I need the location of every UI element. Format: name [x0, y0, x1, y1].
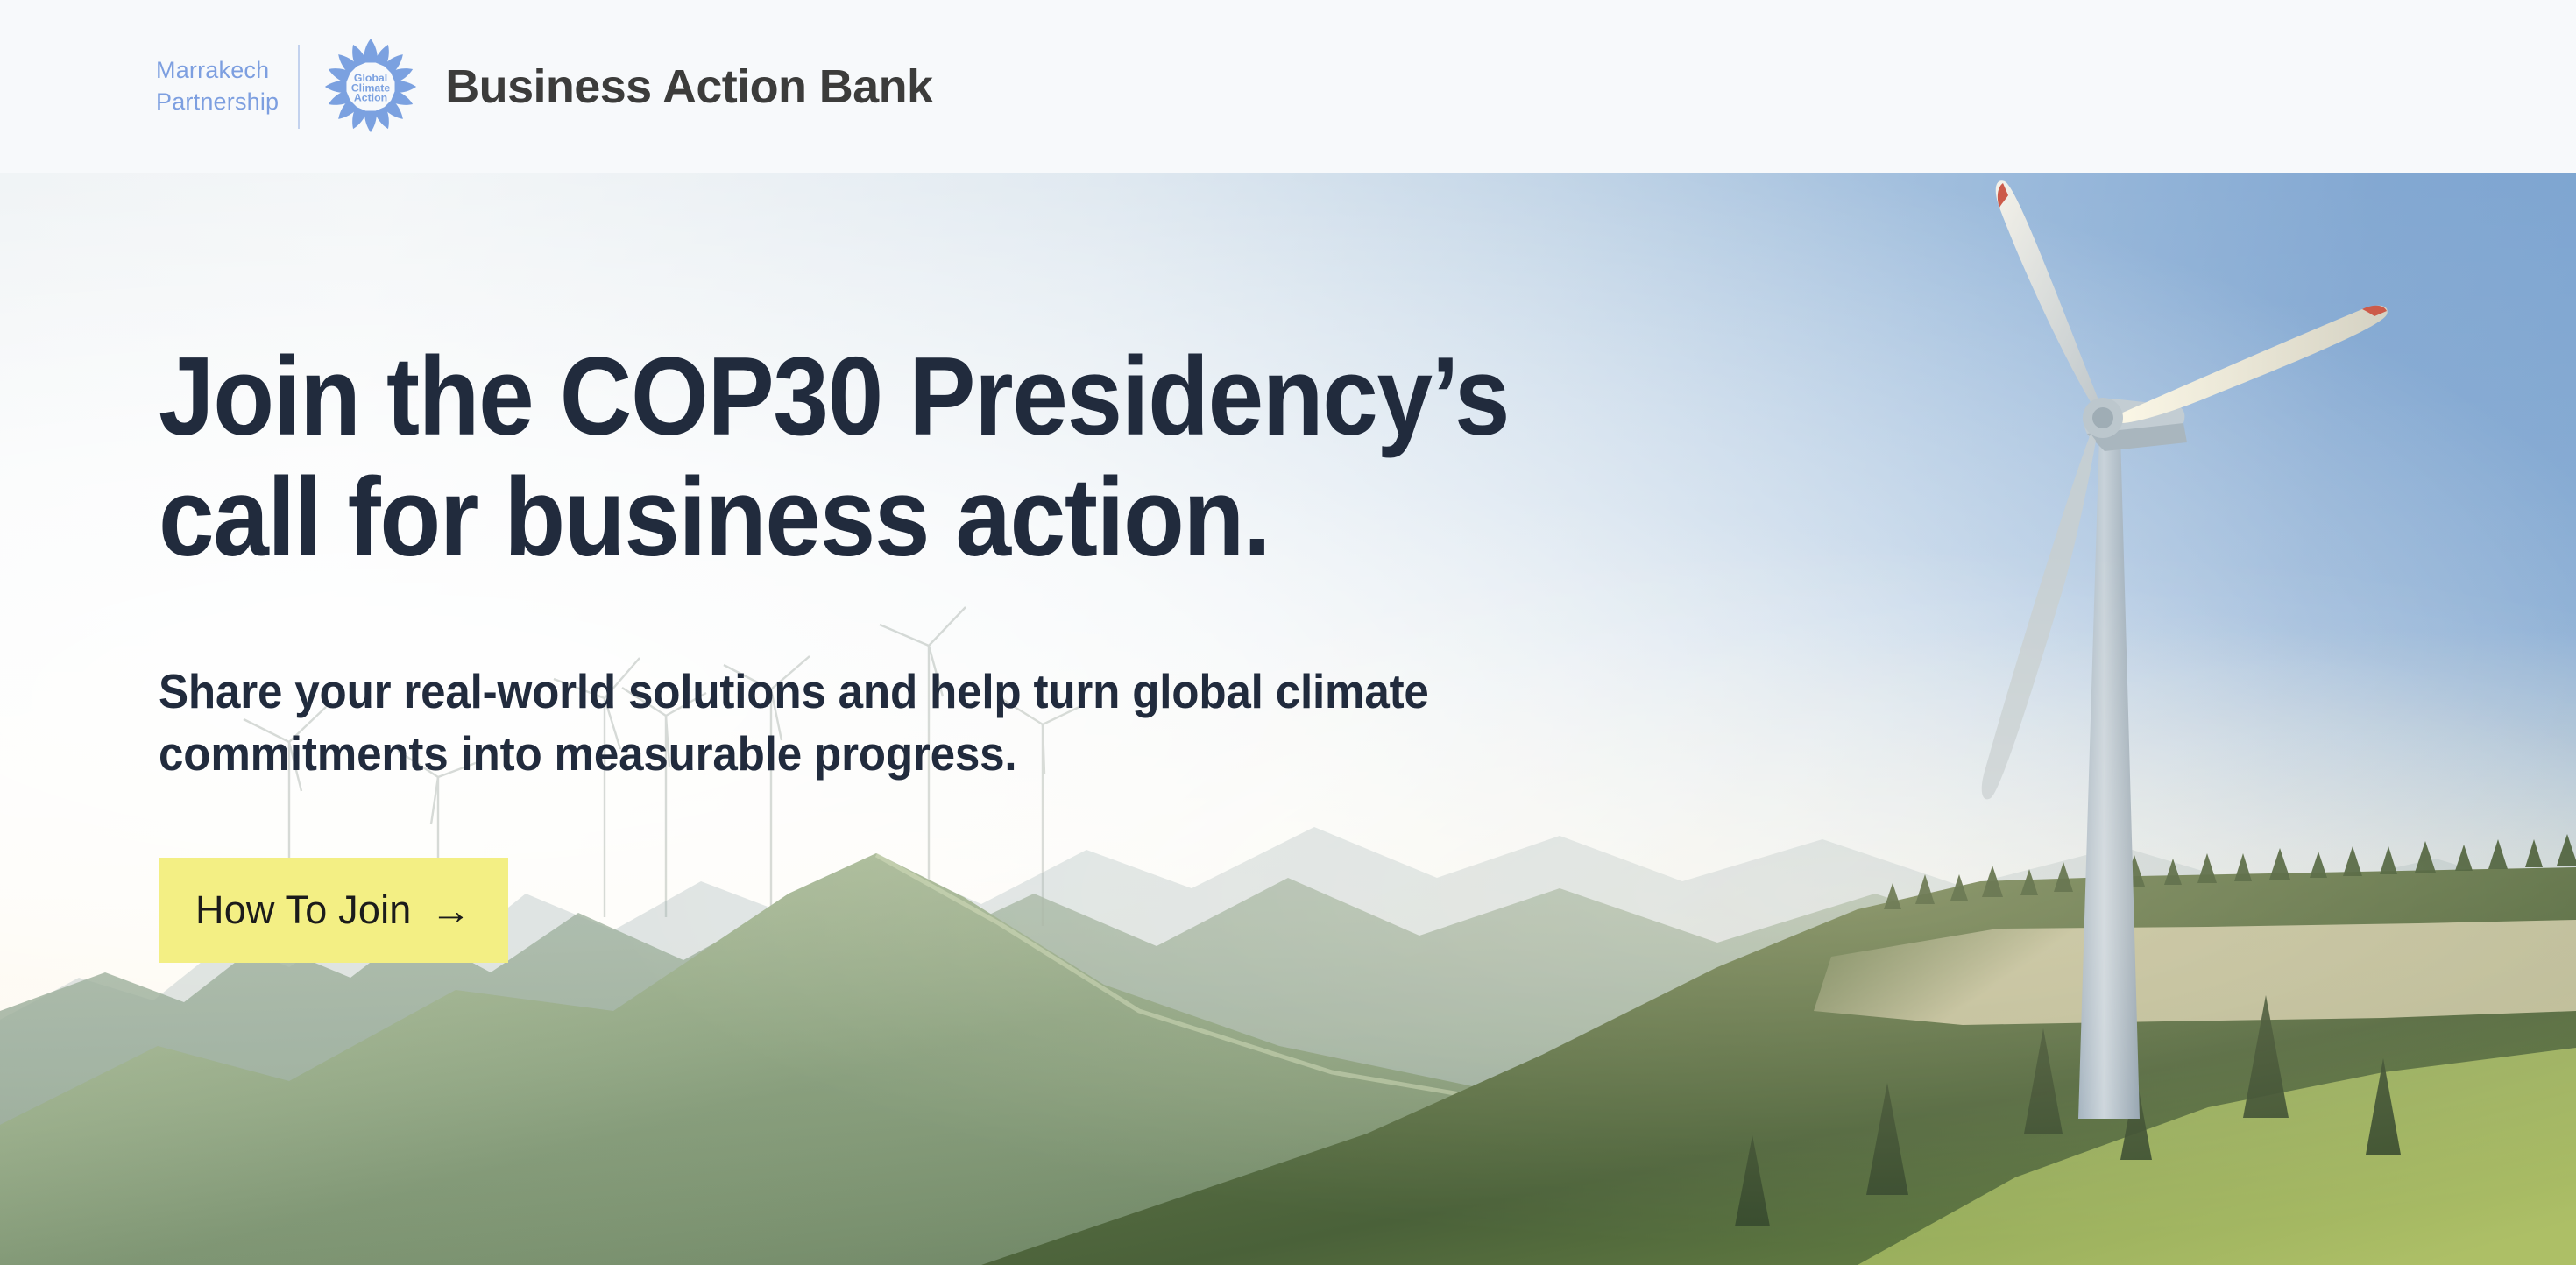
page-title: Business Action Bank [445, 60, 932, 114]
hero-banner: Join the COP30 Presidency’s call for bus… [0, 173, 2576, 1265]
brand-divider [298, 45, 300, 129]
how-to-join-label: How To Join [195, 890, 412, 929]
emblem-line-3-text: Action [354, 91, 387, 103]
cta-row: How To Join → [159, 858, 2042, 963]
hero-content: Join the COP30 Presidency’s call for bus… [159, 336, 2042, 963]
brand-lockup[interactable]: Marrakech Partnership [156, 34, 932, 139]
hero-heading: Join the COP30 Presidency’s call for bus… [159, 336, 1854, 578]
global-climate-action-emblem: Global Climate Action [319, 35, 422, 138]
how-to-join-button[interactable]: How To Join → [159, 858, 508, 963]
marrakech-partnership-line-2: Partnership [156, 87, 279, 118]
site-header: Marrakech Partnership [0, 0, 2576, 173]
hero-subheading: Share your real-world solutions and help… [159, 661, 1911, 786]
marrakech-partnership-line-1: Marrakech [156, 55, 279, 87]
marrakech-partnership-wordmark: Marrakech Partnership [156, 55, 298, 117]
arrow-right-icon: → [431, 890, 471, 930]
